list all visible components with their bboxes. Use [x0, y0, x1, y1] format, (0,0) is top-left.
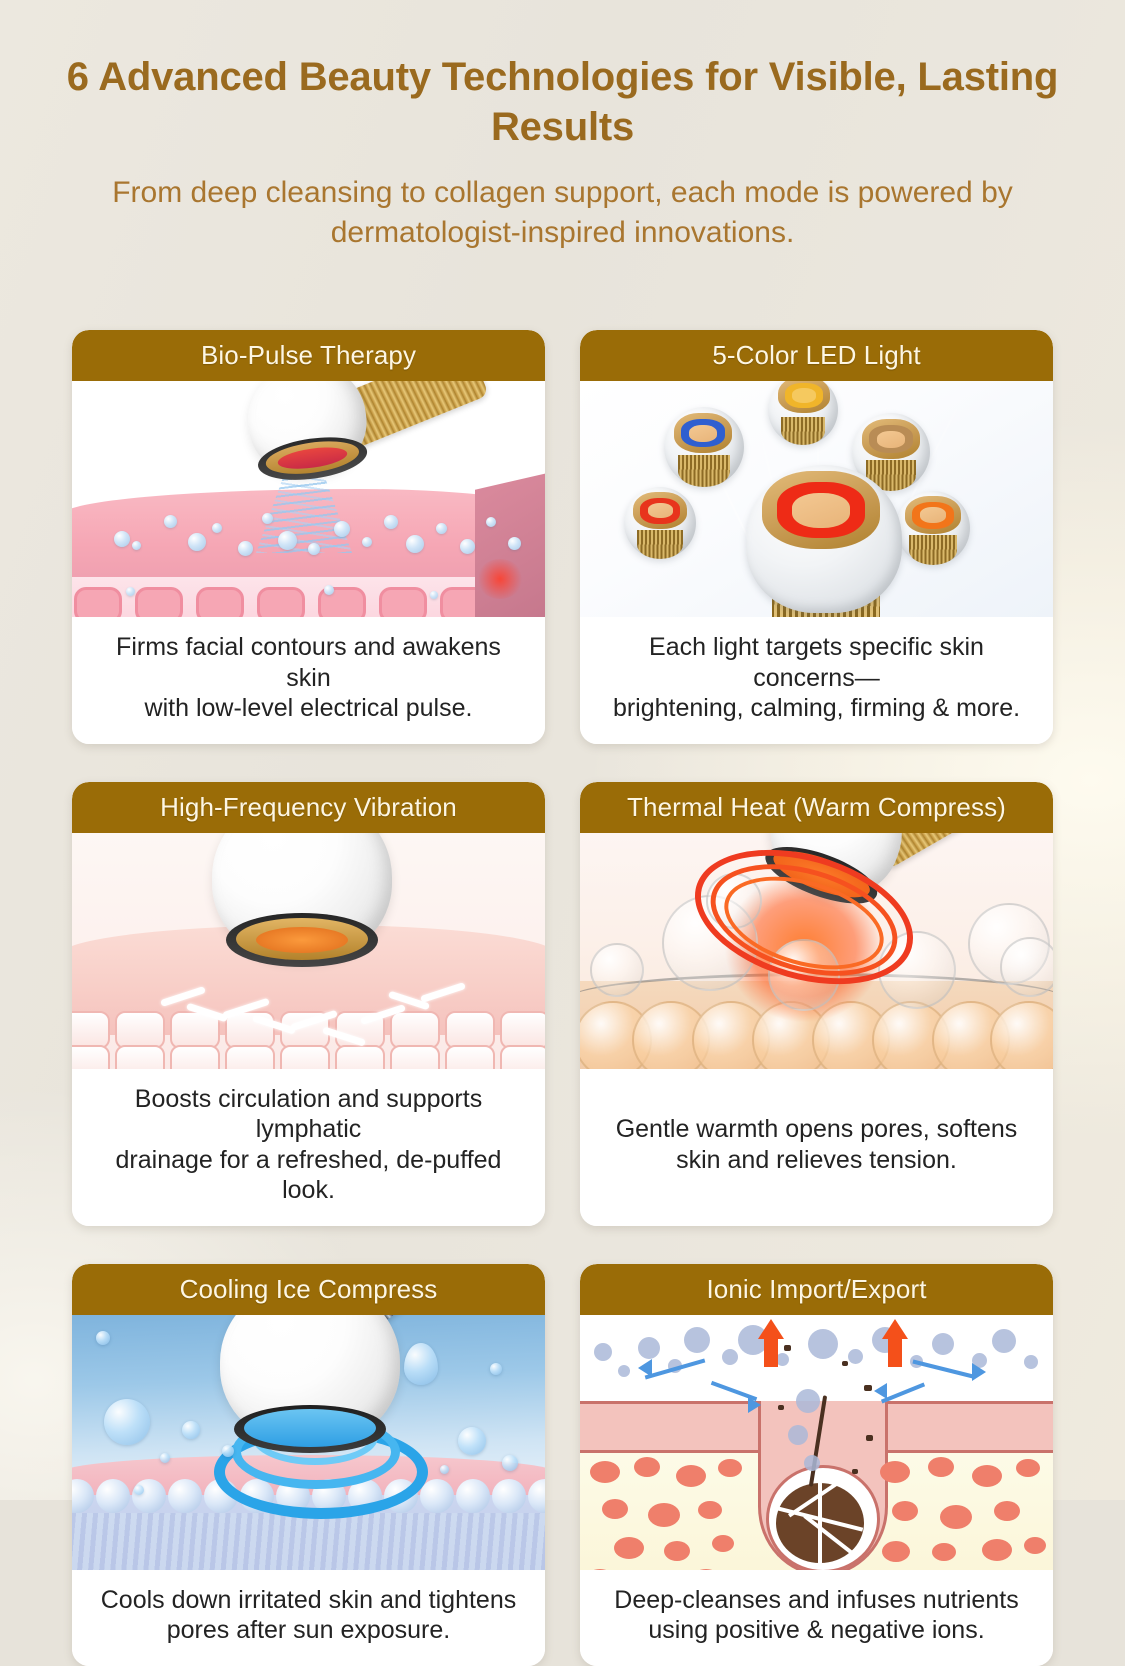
caption-line-2: with low-level electrical pulse.: [92, 693, 525, 724]
caption-line-1: Deep-cleanses and infuses nutrients: [614, 1585, 1018, 1616]
feature-card-grid: Bio-Pulse Therapy: [72, 330, 1053, 1666]
feature-card-5-color-led-light[interactable]: 5-Color LED Light: [580, 330, 1053, 744]
feature-card-cooling-ice-compress[interactable]: Cooling Ice Compress: [72, 1264, 545, 1666]
led-head-red: [624, 487, 696, 559]
header: 6 Advanced Beauty Technologies for Visib…: [0, 0, 1125, 253]
card-caption: Firms facial contours and awakens skin w…: [72, 617, 545, 744]
caption-line-1: Gentle warmth opens pores, softens: [616, 1114, 1018, 1145]
caption-line-2: pores after sun exposure.: [101, 1615, 517, 1646]
feature-card-bio-pulse-therapy[interactable]: Bio-Pulse Therapy: [72, 330, 545, 744]
cooling-illustration: [72, 1315, 545, 1570]
bio-pulse-illustration: [72, 381, 545, 617]
caption-line-2: skin and relieves tension.: [616, 1145, 1018, 1176]
infographic-page: 6 Advanced Beauty Technologies for Visib…: [0, 0, 1125, 1500]
caption-line-1: Each light targets specific skin concern…: [600, 632, 1033, 693]
card-caption: Deep-cleanses and infuses nutrients usin…: [580, 1570, 1053, 1666]
card-title-banner: High-Frequency Vibration: [72, 782, 545, 833]
caption-line-1: Boosts circulation and supports lymphati…: [92, 1084, 525, 1145]
card-title-banner: Ionic Import/Export: [580, 1264, 1053, 1315]
card-caption: Cools down irritated skin and tightens p…: [72, 1570, 545, 1666]
card-title-banner: Bio-Pulse Therapy: [72, 330, 545, 381]
card-title-banner: 5-Color LED Light: [580, 330, 1053, 381]
led-light-illustration: [580, 381, 1053, 617]
card-caption: Each light targets specific skin concern…: [580, 617, 1053, 744]
caption-line-1: Firms facial contours and awakens skin: [92, 632, 525, 693]
card-title-banner: Cooling Ice Compress: [72, 1264, 545, 1315]
caption-line-2: using positive & negative ions.: [614, 1615, 1018, 1646]
led-head-main: [746, 465, 902, 613]
led-head-blue: [664, 407, 744, 487]
thermal-heat-illustration: [580, 833, 1053, 1069]
card-caption: Gentle warmth opens pores, softens skin …: [580, 1069, 1053, 1226]
feature-card-ionic-import-export[interactable]: Ionic Import/Export: [580, 1264, 1053, 1666]
page-title: 6 Advanced Beauty Technologies for Visib…: [48, 52, 1077, 153]
caption-line-2: brightening, calming, firming & more.: [600, 693, 1033, 724]
ionic-illustration: [580, 1315, 1053, 1570]
card-caption: Boosts circulation and supports lymphati…: [72, 1069, 545, 1226]
caption-line-1: Cools down irritated skin and tightens: [101, 1585, 517, 1616]
vibration-illustration: [72, 833, 545, 1069]
caption-line-2: drainage for a refreshed, de-puffed look…: [92, 1145, 525, 1206]
led-head-yellow: [768, 381, 838, 445]
feature-card-thermal-heat[interactable]: Thermal Heat (Warm Compress): [580, 782, 1053, 1226]
card-title-banner: Thermal Heat (Warm Compress): [580, 782, 1053, 833]
led-head-orange: [896, 491, 970, 565]
page-subtitle: From deep cleansing to collagen support,…: [48, 173, 1077, 253]
feature-card-high-frequency-vibration[interactable]: High-Frequency Vibration: [72, 782, 545, 1226]
